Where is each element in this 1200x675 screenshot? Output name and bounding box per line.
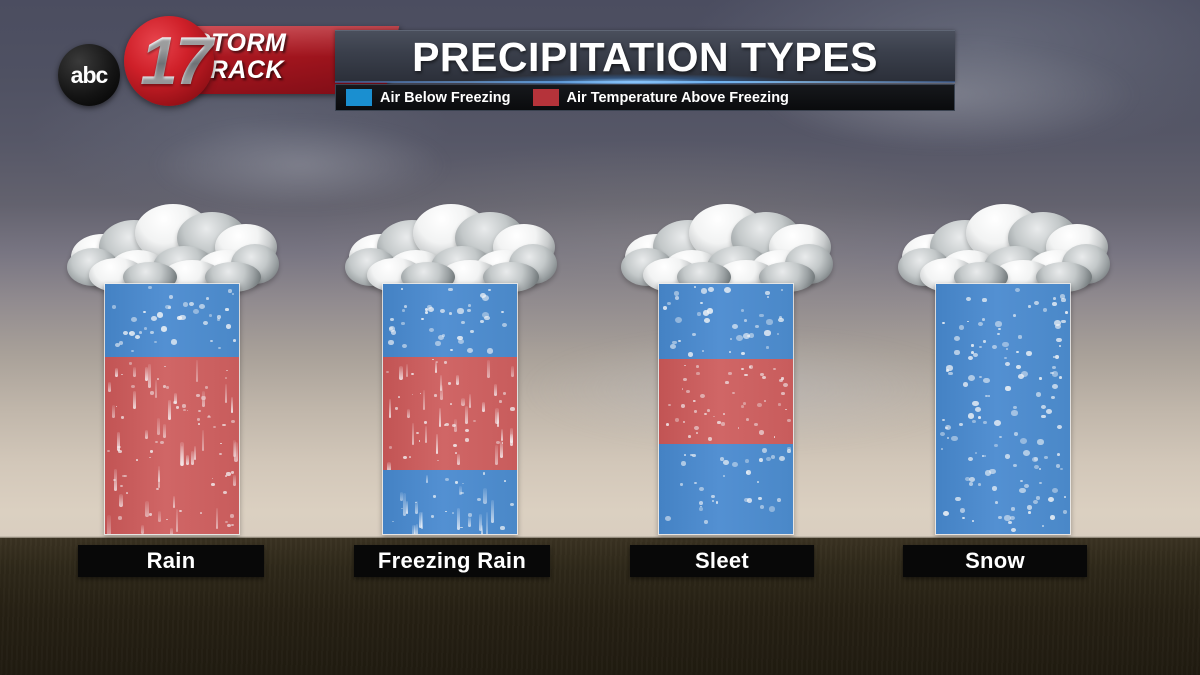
precip-particle (683, 421, 685, 422)
precip-particle (207, 416, 210, 419)
precip-particle (746, 470, 752, 475)
precip-particle (1055, 324, 1061, 329)
precip-particle (457, 308, 463, 313)
abc-logo-text: abc (58, 44, 120, 106)
precip-particle (1039, 468, 1042, 470)
particle-layer (105, 357, 239, 535)
precip-particle (962, 517, 964, 519)
precip-particle (163, 424, 166, 438)
precip-particle (760, 505, 764, 509)
precip-particle (445, 423, 449, 426)
precip-particle (694, 482, 697, 485)
precip-particle (963, 382, 968, 387)
title-bar: PRECIPITATION TYPES (335, 30, 955, 82)
precip-particle (151, 316, 157, 321)
precip-particle (1018, 374, 1024, 379)
precip-particle (226, 472, 230, 475)
precip-particle (420, 393, 422, 394)
precip-particle (436, 434, 439, 454)
precip-particle (995, 321, 1001, 326)
precip-particle (390, 318, 394, 321)
precip-particle (233, 339, 236, 342)
precip-particle (416, 432, 419, 434)
atmosphere-bar (104, 283, 240, 535)
precip-particle (684, 365, 686, 366)
precip-particle (227, 524, 231, 528)
precip-particle (684, 454, 686, 456)
precip-particle (468, 513, 472, 517)
precip-particle (985, 395, 988, 397)
precip-particle (107, 450, 110, 453)
title-underline (335, 81, 955, 83)
precip-particle (468, 517, 470, 527)
precip-particle (785, 409, 787, 411)
precip-particle (230, 514, 234, 517)
precip-particle (757, 481, 759, 483)
legend-item-warm: Air Temperature Above Freezing (533, 89, 789, 106)
precip-particle (150, 450, 154, 453)
precip-particle (171, 339, 177, 344)
precip-particle (696, 432, 698, 434)
precip-particle (391, 330, 396, 335)
precip-particle (452, 512, 455, 514)
precip-particle (216, 508, 219, 529)
precip-particle (954, 350, 959, 354)
precip-particle (412, 525, 415, 535)
precip-particle (764, 330, 770, 335)
precip-particle (176, 406, 179, 409)
precip-particle (759, 430, 764, 434)
precip-particle (759, 314, 763, 318)
precip-particle (1010, 516, 1015, 521)
precip-particle (233, 440, 236, 457)
precip-particle (500, 526, 504, 530)
precip-particle (783, 383, 788, 387)
precip-particle (1059, 345, 1061, 347)
precip-particle (126, 492, 129, 494)
precip-particle (983, 421, 986, 424)
precip-particle (158, 470, 160, 482)
precip-particle (121, 416, 124, 419)
precip-particle (1033, 500, 1038, 504)
precip-particle (1016, 365, 1021, 369)
precip-particle (450, 349, 453, 352)
precip-particle (674, 291, 679, 295)
precip-particle (728, 372, 731, 375)
precip-particle (992, 345, 997, 349)
precip-particle (143, 311, 146, 313)
precip-particle (708, 437, 713, 441)
precip-particle (749, 333, 755, 338)
precip-particle (488, 289, 491, 291)
precip-particle (497, 412, 500, 427)
precip-particle (148, 286, 151, 289)
precip-particle (732, 392, 735, 394)
precip-particle (1053, 356, 1055, 358)
precip-particle (166, 519, 168, 521)
precip-particle (693, 400, 696, 402)
precip-particle (510, 407, 514, 411)
precip-particle (998, 328, 1000, 330)
precip-particle (183, 409, 185, 411)
precip-particle (487, 360, 490, 378)
precip-particle (115, 368, 118, 378)
precip-particle (766, 346, 769, 348)
precip-particle (667, 302, 671, 305)
precip-particle (995, 501, 998, 504)
legend: Air Below Freezing Air Temperature Above… (335, 84, 955, 111)
precip-particle (136, 459, 138, 461)
precip-particle (778, 318, 783, 322)
precip-particle (461, 398, 464, 406)
precip-particle (973, 353, 978, 357)
precip-particle (787, 447, 791, 450)
precip-particle (1011, 528, 1016, 532)
precip-particle (423, 390, 425, 410)
precip-particle (461, 321, 465, 324)
precip-particle (1054, 320, 1061, 326)
precip-particle (724, 287, 731, 293)
temperature-band-cold (105, 284, 239, 357)
precip-particle (1050, 372, 1053, 375)
precip-particle (169, 295, 173, 299)
precip-particle (1014, 432, 1018, 436)
precip-particle (460, 492, 464, 495)
precip-particle (496, 441, 500, 444)
precip-particle (982, 455, 984, 457)
precip-particle (429, 328, 434, 332)
precip-particle (1015, 288, 1020, 292)
particle-layer (936, 284, 1070, 534)
precip-particle (699, 487, 704, 491)
precip-particle (118, 450, 121, 453)
precip-particle (762, 448, 767, 453)
precip-particle (400, 492, 403, 501)
precip-particle (465, 438, 469, 441)
precip-particle (1052, 488, 1059, 494)
precip-particle (694, 286, 696, 288)
precip-particle (166, 386, 169, 388)
precip-particle (431, 515, 435, 518)
precip-column-freezing-rain (353, 200, 543, 580)
precip-particle (173, 496, 175, 509)
precip-particle (682, 388, 684, 389)
precip-particle (458, 339, 464, 344)
precip-particle (978, 416, 981, 419)
precip-particle (686, 390, 690, 394)
precip-particle (729, 351, 731, 353)
precip-particle (1005, 386, 1010, 390)
precip-particle (121, 374, 123, 376)
precip-particle (179, 510, 182, 512)
precip-particle (972, 520, 974, 522)
particle-layer (383, 357, 517, 470)
precip-particle (1046, 409, 1052, 414)
precip-particle (157, 418, 160, 434)
precip-particle (157, 312, 163, 318)
precip-particle (453, 444, 457, 447)
precip-particle (766, 319, 772, 324)
precip-particle (500, 441, 503, 458)
precip-particle (161, 326, 167, 331)
precip-particle (212, 478, 214, 479)
precip-particle (675, 317, 682, 323)
precip-particle (424, 421, 427, 423)
precip-particle (194, 446, 196, 459)
precip-particle (1056, 338, 1061, 342)
precip-particle (219, 453, 222, 455)
weather-graphic: STORM TRACK 17 abc PRECIPITATION TYPES A… (0, 0, 1200, 675)
precip-particle (758, 497, 761, 500)
particle-layer (659, 284, 793, 359)
precip-particle (462, 483, 464, 485)
precip-column-rain (75, 200, 265, 580)
precip-particle (672, 341, 677, 345)
precip-particle (1060, 468, 1063, 471)
precip-particle (482, 402, 484, 412)
precip-particle (1057, 453, 1060, 456)
precip-particle (480, 293, 487, 299)
precip-particle (174, 393, 176, 404)
precip-particle (406, 501, 409, 515)
precip-particle (781, 377, 784, 379)
precip-particle (210, 340, 213, 342)
precip-particle (176, 509, 178, 532)
precip-particle (675, 418, 679, 421)
precip-column-sleet (629, 200, 819, 580)
precip-particle (999, 436, 1002, 438)
precip-particle (511, 366, 514, 377)
precip-particle (979, 346, 982, 348)
precip-particle (940, 432, 945, 437)
cloud-wisp (150, 120, 450, 210)
precip-particle (440, 385, 443, 401)
cloud-icon (65, 200, 275, 290)
precip-particle (226, 370, 228, 371)
precip-particle (954, 336, 960, 341)
precip-particle (115, 343, 120, 347)
precip-particle (225, 475, 227, 477)
precip-particle (191, 451, 194, 466)
precip-particle (206, 297, 209, 300)
precip-particle (415, 502, 417, 503)
precip-particle (692, 333, 696, 336)
precip-particle (457, 508, 460, 530)
precip-particle (449, 312, 453, 315)
blue-swatch-icon (346, 89, 372, 106)
precip-particle (445, 478, 449, 481)
precip-particle (158, 511, 161, 522)
particle-layer (383, 284, 517, 357)
precip-particle (491, 500, 494, 523)
precip-particle (187, 410, 189, 411)
precip-particle (983, 340, 986, 342)
precip-particle (144, 327, 148, 330)
temperature-band-warm (383, 357, 517, 470)
precip-particle (168, 400, 172, 420)
atmosphere-bar (382, 283, 518, 535)
precip-particle (145, 367, 148, 381)
precip-particle (1005, 454, 1010, 458)
precip-particle (702, 350, 704, 352)
precip-particle (1055, 355, 1060, 359)
precip-particle (1039, 377, 1042, 379)
precip-particle (484, 316, 490, 321)
precip-particle (504, 480, 506, 482)
precip-particle (465, 429, 469, 432)
precip-particle (437, 460, 439, 461)
precip-particle (703, 310, 710, 316)
precip-particle (407, 409, 410, 418)
precip-particle (948, 372, 952, 376)
precip-particle (1011, 410, 1017, 415)
precip-particle (694, 410, 697, 412)
atmosphere-bar (935, 283, 1071, 535)
precip-particle (1005, 362, 1010, 366)
precip-particle (1052, 371, 1059, 377)
precip-particle (389, 446, 392, 449)
legend-item-cold: Air Below Freezing (346, 89, 511, 106)
precip-particle (395, 407, 398, 410)
precip-particle (1006, 348, 1008, 350)
precip-particle (419, 512, 422, 528)
precip-particle (741, 368, 744, 370)
precip-particle (114, 469, 117, 491)
precip-particle (712, 500, 715, 502)
precip-particle (942, 419, 945, 422)
precip-particle (129, 332, 131, 334)
precip-particle (1002, 342, 1009, 348)
precip-particle (1034, 465, 1039, 469)
precip-particle (1052, 384, 1058, 389)
precip-particle (760, 373, 764, 376)
precip-particle (468, 304, 471, 307)
precip-particle (165, 305, 171, 310)
precip-particle (744, 498, 749, 502)
precip-particle (700, 394, 705, 398)
precip-particle (1051, 396, 1055, 399)
precip-particle (765, 291, 769, 295)
red-swatch-icon (533, 89, 559, 106)
precip-particle (116, 406, 118, 407)
precip-particle (510, 503, 514, 506)
precip-particle (182, 404, 186, 407)
precip-particle (997, 333, 999, 335)
precip-particle (482, 312, 489, 318)
precip-particle (1052, 366, 1056, 370)
precip-particle (992, 486, 997, 490)
precip-particle (1020, 438, 1027, 444)
precip-particle (700, 506, 702, 508)
precip-particle (777, 333, 779, 335)
precip-particle (479, 514, 482, 531)
precip-particle (494, 384, 496, 396)
precip-particle (427, 305, 432, 309)
precip-particle (1020, 480, 1023, 482)
precip-particle (1042, 525, 1044, 527)
precip-particle (1059, 376, 1062, 379)
precip-particle (741, 352, 745, 355)
precip-particle (707, 308, 713, 313)
precip-particle (473, 420, 476, 422)
precip-particle (119, 341, 124, 345)
precip-particle (1036, 392, 1041, 396)
precip-particle (1065, 311, 1068, 314)
precip-particle (941, 448, 943, 450)
precip-particle (456, 375, 459, 386)
precip-particle (428, 307, 434, 312)
precip-particle (150, 331, 154, 335)
precip-particle (721, 422, 725, 425)
precip-particle (766, 457, 771, 461)
precip-particle (983, 378, 989, 383)
precip-particle (444, 361, 447, 363)
precip-particle (716, 501, 719, 503)
column-label-freezing-rain: Freezing Rain (354, 545, 550, 577)
precip-particle (203, 321, 208, 325)
precip-particle (202, 391, 205, 406)
precip-particle (202, 430, 205, 451)
precip-particle (220, 443, 222, 445)
precip-particle (971, 351, 974, 354)
precip-particle (439, 408, 441, 428)
precip-particle (747, 498, 752, 503)
precip-particle (141, 525, 144, 533)
precip-particle (670, 344, 676, 349)
precip-particle (975, 407, 981, 412)
precip-particle (501, 311, 503, 313)
precip-particle (1011, 507, 1015, 510)
precip-particle (222, 424, 225, 427)
precip-particle (955, 497, 961, 502)
precip-particle (688, 435, 691, 438)
precip-particle (1028, 511, 1031, 514)
precip-particle (1050, 515, 1055, 519)
precip-particle (457, 454, 460, 465)
precip-particle (1052, 302, 1056, 306)
precip-particle (699, 507, 703, 511)
precip-particle (975, 452, 977, 454)
precip-particle (483, 488, 487, 503)
cloud-icon (343, 200, 553, 290)
precip-particle (998, 516, 1002, 519)
precip-particle (771, 455, 775, 459)
precip-particle (113, 479, 116, 482)
precip-particle (112, 305, 116, 309)
precip-particle (124, 475, 127, 477)
precip-particle (1034, 457, 1038, 461)
precip-particle (1039, 482, 1042, 485)
precip-particle (1036, 496, 1040, 499)
precip-particle (501, 429, 503, 442)
precip-particle (778, 403, 781, 405)
precip-particle (435, 341, 441, 346)
precip-particle (401, 288, 403, 290)
precip-particle (720, 457, 724, 461)
precip-particle (759, 458, 763, 462)
precip-particle (398, 396, 400, 398)
precip-particle (683, 378, 687, 381)
precip-particle (225, 377, 228, 379)
precip-particle (232, 293, 234, 295)
precip-particle (704, 318, 710, 323)
precip-particle (968, 356, 973, 360)
precip-particle (787, 449, 791, 452)
precip-particle (198, 423, 201, 425)
precip-particle (200, 512, 203, 514)
precip-particle (158, 466, 161, 488)
precip-particle (680, 483, 683, 485)
